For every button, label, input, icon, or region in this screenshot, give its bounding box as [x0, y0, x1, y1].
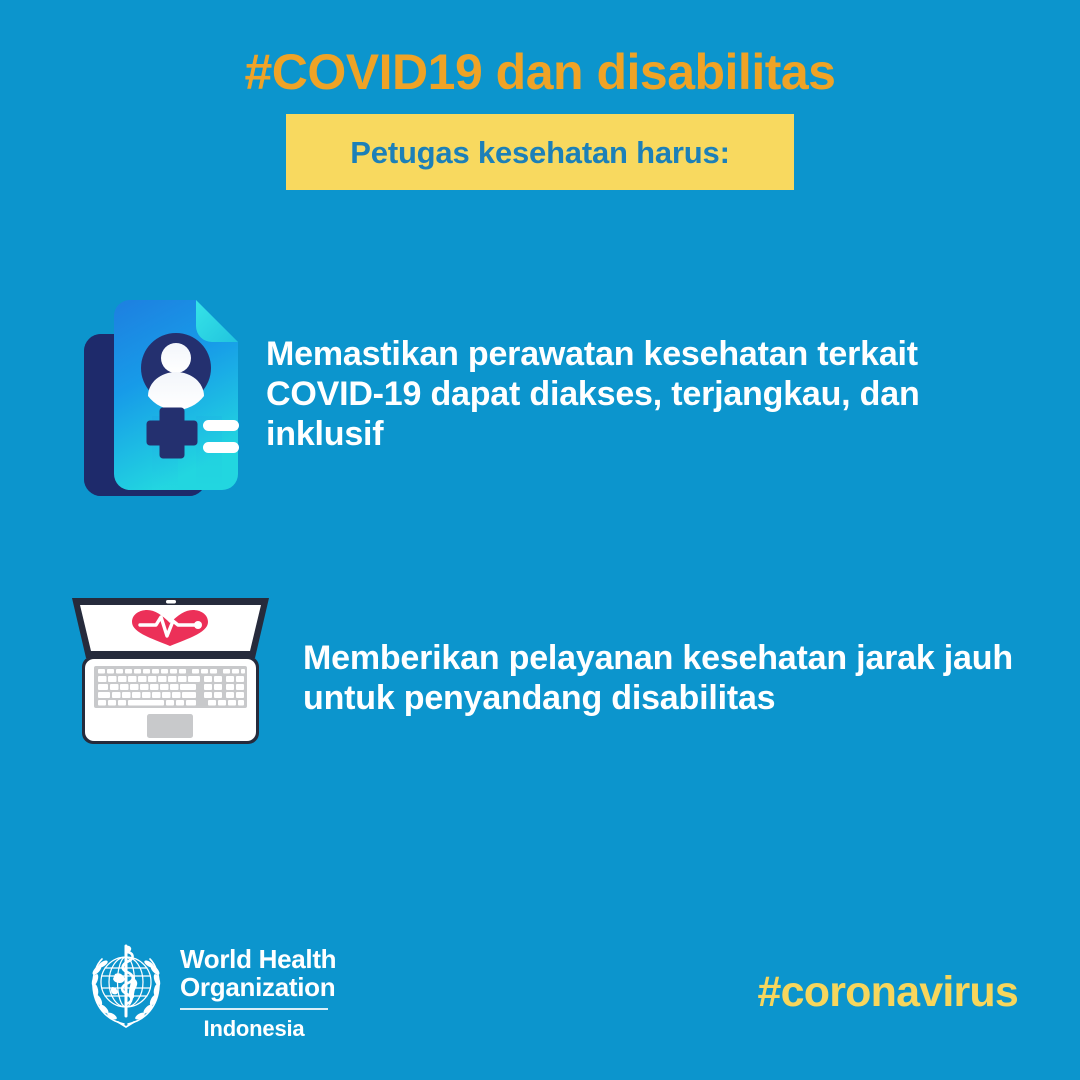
- who-un-emblem-icon: [84, 940, 168, 1032]
- subtitle-container: Petugas kesehatan harus:: [0, 114, 1080, 190]
- laptop-telehealth-icon: [58, 590, 283, 750]
- list-item: Memberikan pelayanan kesehatan jarak jau…: [58, 590, 1043, 750]
- hashtag-coronavirus: #coronavirus: [758, 968, 1018, 1017]
- who-country-label: Indonesia: [180, 1016, 328, 1042]
- list-item-text: Memastikan perawatan kesehatan terkait C…: [266, 334, 1006, 454]
- who-name-line-2: Organization: [180, 974, 336, 1002]
- who-logo: World Health Organization Indonesia: [84, 940, 336, 1042]
- icon-container: [78, 296, 246, 502]
- who-name-line-1: World Health: [180, 946, 336, 974]
- medical-record-document-icon: [78, 296, 246, 502]
- poster-footer: World Health Organization Indonesia #cor…: [0, 920, 1080, 1080]
- subtitle-banner: Petugas kesehatan harus:: [286, 114, 794, 190]
- page-title: #COVID19 dan disabilitas: [0, 0, 1080, 100]
- icon-container: [58, 590, 283, 750]
- who-logo-divider: [180, 1008, 328, 1010]
- who-wordmark: World Health Organization Indonesia: [180, 946, 336, 1042]
- list-item-text: Memberikan pelayanan kesehatan jarak jau…: [303, 638, 1043, 718]
- poster-header: #COVID19 dan disabilitas Petugas kesehat…: [0, 0, 1080, 190]
- poster-canvas: #COVID19 dan disabilitas Petugas kesehat…: [0, 0, 1080, 1080]
- list-item: Memastikan perawatan kesehatan terkait C…: [78, 296, 1006, 502]
